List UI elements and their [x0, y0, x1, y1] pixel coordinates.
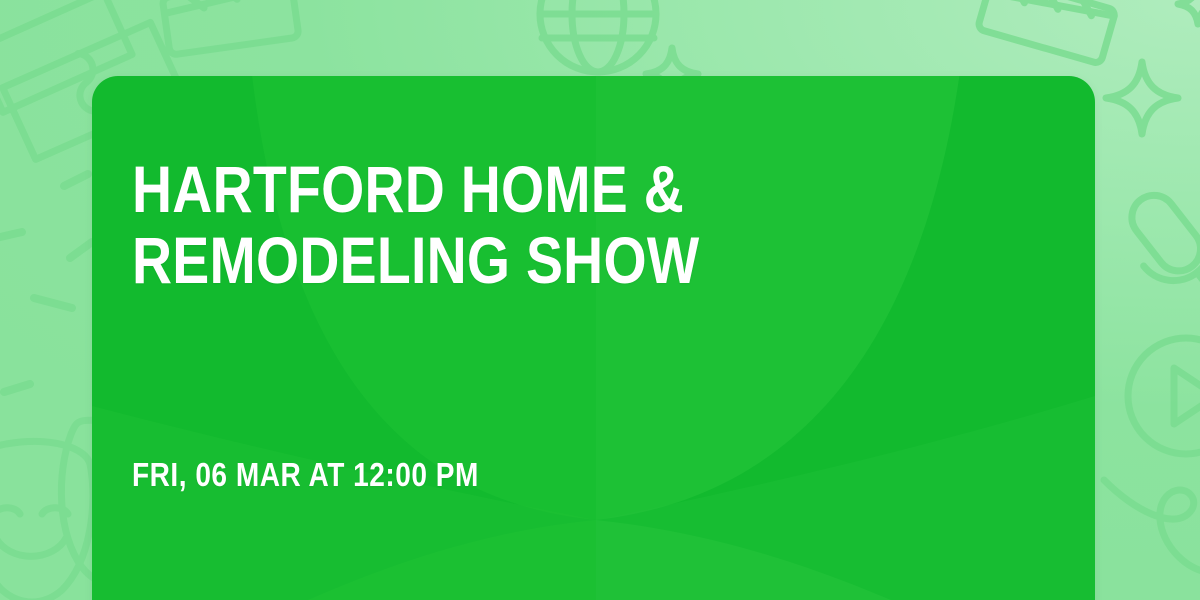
- microphone-icon: [1110, 177, 1200, 317]
- play-circle-icon: [1128, 338, 1200, 454]
- sparkle-icon: [1106, 62, 1178, 134]
- event-card[interactable]: Hartford Home & Remodeling Show Fri, 06 …: [92, 76, 1095, 600]
- confetti-icon: [0, 174, 92, 308]
- event-date-time: Fri, 06 Mar at 12:00 PM: [132, 458, 479, 491]
- clapperboard-icon: [162, 0, 299, 55]
- globe-icon: [540, 0, 656, 72]
- ribbon-swirl-icon: [1104, 480, 1200, 600]
- clapperboard-icon: [977, 0, 1115, 64]
- event-title: Hartford Home & Remodeling Show: [132, 154, 888, 297]
- confetti-icon: [4, 384, 30, 392]
- sparkle-icon: [1178, 0, 1200, 24]
- event-banner: Hartford Home & Remodeling Show Fri, 06 …: [0, 0, 1200, 600]
